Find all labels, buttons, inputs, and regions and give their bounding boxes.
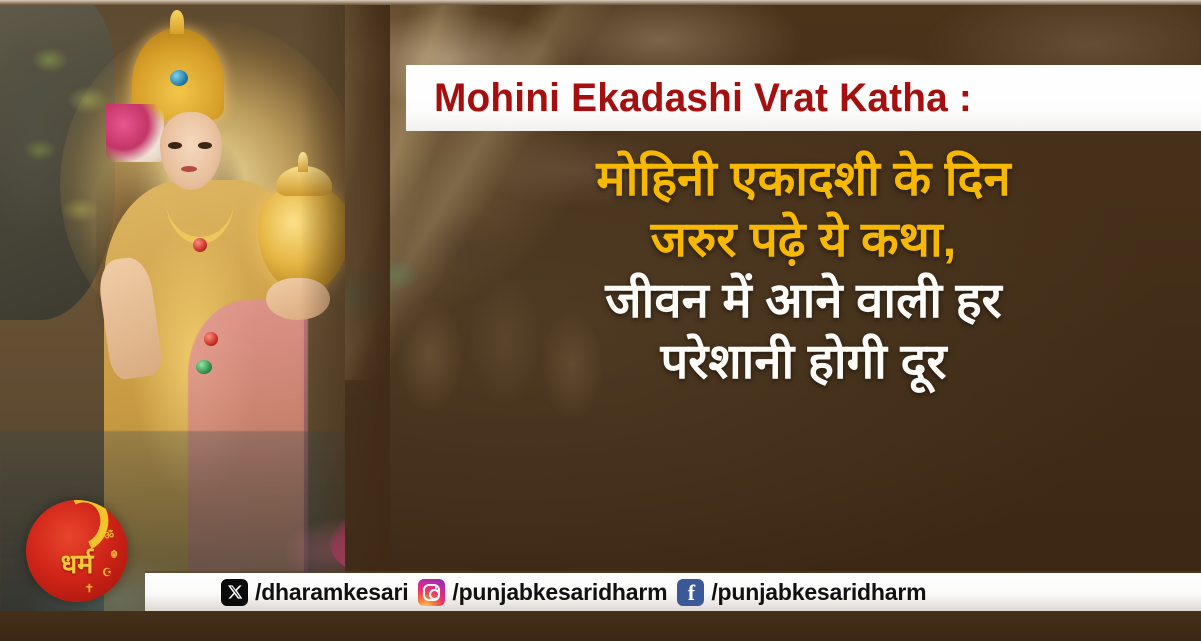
cross-icon: ✝: [85, 582, 94, 595]
dharm-logo: धर्म ॐ ☬ ☪ ✝: [26, 500, 128, 602]
instagram-handle: /punjabkesaridharm: [452, 579, 667, 606]
crown-gem: [170, 70, 188, 86]
headline-line-3: जीवन में आने वाली हर: [605, 272, 1001, 331]
om-icon: ॐ: [104, 528, 114, 543]
headline-line-4: परेशानी होगी दूर: [660, 333, 946, 392]
bottom-strip: [0, 611, 1201, 641]
social-item-facebook[interactable]: f /punjabkesaridharm: [677, 579, 926, 606]
title-banner: Mohini Ekadashi Vrat Katha :: [406, 65, 1201, 131]
social-item-instagram[interactable]: /punjabkesaridharm: [418, 579, 667, 606]
facebook-handle: /punjabkesaridharm: [711, 579, 926, 606]
x-twitter-icon: [221, 579, 248, 606]
lips: [181, 166, 197, 172]
necklace-gem: [193, 238, 207, 252]
page-title: Mohini Ekadashi Vrat Katha :: [434, 76, 972, 121]
hair-flowers: [106, 104, 164, 162]
khanda-icon: ☬: [110, 548, 118, 561]
eye-right: [198, 142, 212, 149]
headline-line-1: मोहिनी एकादशी के दिन: [596, 150, 1010, 209]
eye-left: [168, 142, 182, 149]
photo-blend-edge: [300, 0, 390, 641]
poster-root: Mohini Ekadashi Vrat Katha : मोहिनी एकाद…: [0, 0, 1201, 641]
headline-block: मोहिनी एकादशी के दिन जरुर पढ़े ये कथा, ज…: [406, 150, 1201, 550]
top-border: [0, 0, 1201, 5]
instagram-icon: [418, 579, 445, 606]
social-bar: /dharamkesari /punjabkesaridharm f /punj…: [145, 573, 1201, 611]
social-item-x[interactable]: /dharamkesari: [221, 579, 408, 606]
x-handle: /dharamkesari: [255, 579, 408, 606]
emerald-gem: [196, 360, 212, 374]
headline-line-2: जरुर पढ़े ये कथा,: [651, 211, 957, 270]
facebook-icon: f: [677, 579, 704, 606]
waist-gem: [204, 332, 218, 346]
crescent-icon: ☪: [102, 566, 112, 579]
